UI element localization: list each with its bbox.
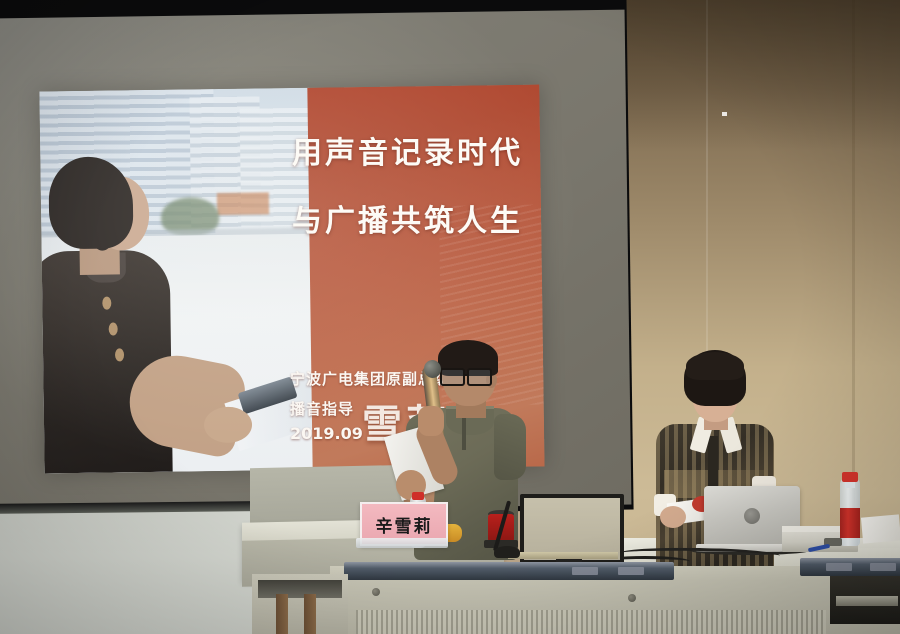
wall-speck (722, 112, 727, 116)
console-drawer-1[interactable] (344, 562, 674, 580)
console-screw-2 (628, 594, 636, 602)
console-rail (508, 552, 618, 559)
table-leg-1 (276, 594, 288, 634)
water-bottle-cap (842, 472, 858, 482)
console-vent-grille (356, 610, 826, 634)
speaker-glasses-icon (440, 368, 494, 383)
glasses-lens-left (440, 368, 465, 386)
name-placard-text: 辛雪莉 (376, 512, 433, 537)
drawer-1-button-b[interactable] (618, 567, 644, 575)
presenter-hair-fringe (686, 352, 744, 380)
drawer-2-button-a[interactable] (826, 563, 852, 571)
drawer-1-button-a[interactable] (572, 567, 598, 575)
dell-logo-icon (744, 508, 760, 524)
console-bay-device (836, 596, 898, 606)
screen-glow (0, 10, 631, 514)
glasses-bridge (463, 374, 469, 376)
speaker-hand-on-mic (418, 406, 444, 436)
gooseneck-microphone-base (494, 546, 520, 558)
left-cabinet-slot (258, 580, 342, 598)
lecture-hall-photo: 用声音记录时代 与广播共筑人生 雪莉 宁波广电集团原副总编 播音指导 2019.… (0, 0, 900, 634)
table-leg-2 (304, 594, 316, 634)
speaker-sleeve-right (494, 414, 526, 480)
presenter-hand (660, 506, 686, 528)
drawer-2-button-b[interactable] (870, 563, 896, 571)
placard-holder (356, 538, 448, 548)
console-drawer-2[interactable] (800, 558, 900, 576)
glasses-lens-right (467, 368, 492, 386)
papers-on-desk[interactable] (861, 514, 900, 543)
console-screw-1 (372, 588, 380, 596)
wall-shadow-top (600, 0, 900, 150)
water-bottle-left-cap (412, 492, 424, 500)
water-bottle-label (840, 508, 860, 538)
